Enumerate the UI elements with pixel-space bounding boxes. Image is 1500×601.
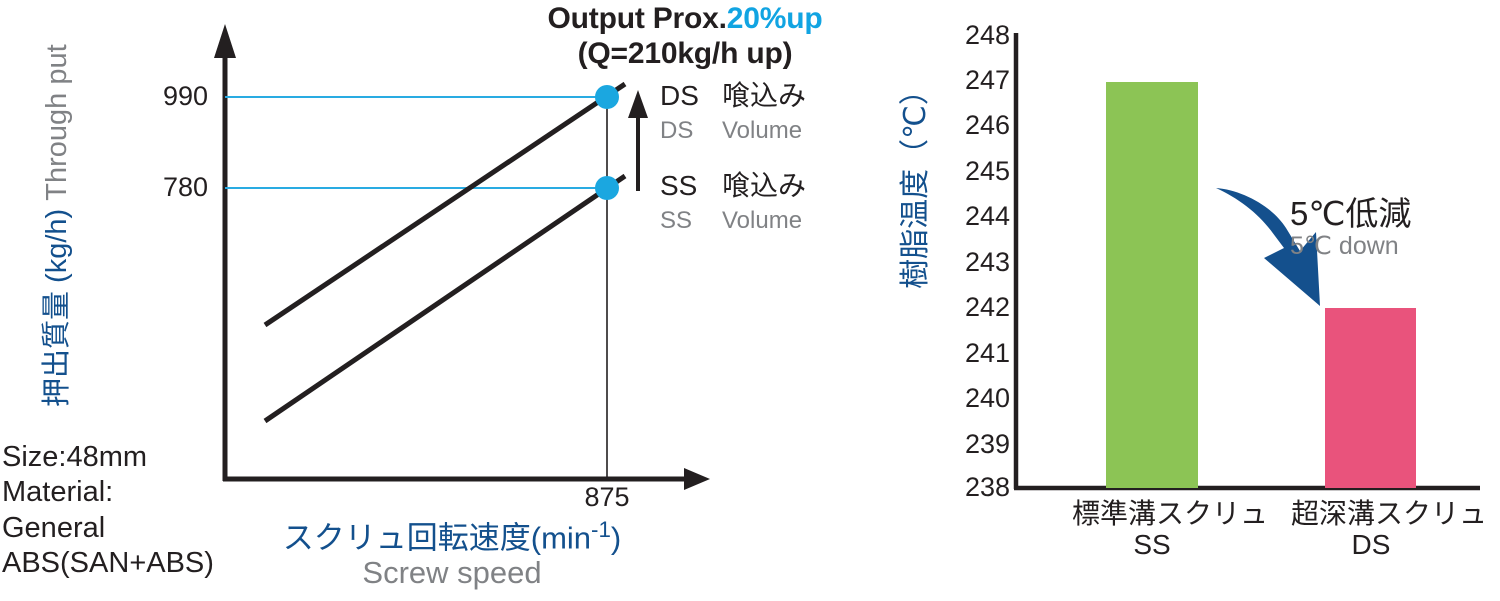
legend-ds-code: DS	[660, 82, 722, 110]
delta-arrow-head	[628, 90, 648, 118]
legend-ss-jp: 喰込み	[722, 170, 806, 201]
left-y-axis-label-en: Through put	[41, 44, 73, 200]
category-ss-code: SS	[1072, 529, 1232, 560]
right-y-tick-245: 245	[948, 156, 1010, 187]
legend-item-ds: DS喰込み DSVolume	[660, 82, 806, 143]
legend-ss-main: SS喰込み	[660, 172, 806, 200]
decrease-annotation: 5℃低減 5℃ down	[1290, 196, 1411, 260]
data-point-ds	[595, 85, 619, 109]
x-label-jp-sup: -1	[591, 517, 611, 542]
bar-ds	[1325, 308, 1416, 488]
legend-item-ss: SS喰込み SSVolume	[660, 172, 806, 233]
legend-ds-jp: 喰込み	[722, 80, 806, 111]
spec-line-size: Size:48mm	[2, 440, 214, 475]
y-axis-arrowhead	[214, 24, 236, 58]
left-chart-panel: Output Prox.20%up (Q=210kg/h up) 990 780…	[0, 0, 880, 601]
left-x-axis-label: スクリュ回転速度(min-1) Screw speed	[262, 517, 642, 591]
bar-ss	[1106, 82, 1198, 488]
legend-ss-sub: SSVolume	[660, 209, 806, 233]
category-ds-code: DS	[1291, 529, 1451, 560]
category-label-ds: 超深溝スクリュ DS	[1291, 498, 1451, 561]
y-tick-990: 990	[118, 81, 208, 112]
x-label-jp-pre: スクリュ回転速度(min	[283, 520, 591, 555]
right-y-tick-244: 244	[948, 201, 1010, 232]
ss-trend-line	[265, 176, 625, 421]
legend-ss-en: Volume	[722, 207, 802, 234]
right-y-tick-248: 248	[948, 20, 1010, 51]
left-y-axis-label-jp: 押出質量 (kg/h)	[41, 209, 73, 407]
right-y-tick-240: 240	[948, 383, 1010, 414]
right-y-tick-241: 241	[948, 338, 1010, 369]
category-ds-jp: 超深溝スクリュ	[1291, 498, 1451, 529]
x-label-jp-post: )	[611, 520, 621, 555]
right-chart-panel: 248 247 246 245 244 243 242 241 240 239 …	[880, 0, 1500, 601]
left-y-axis-label: 押出質量 (kg/h) Through put	[33, 107, 75, 407]
spec-line-abs: ABS(SAN+ABS)	[2, 546, 214, 581]
decrease-annotation-en: 5℃ down	[1290, 232, 1411, 260]
category-ss-jp: 標準溝スクリュ	[1072, 498, 1232, 529]
x-tick-875: 875	[565, 482, 649, 513]
category-label-ss: 標準溝スクリュ SS	[1072, 498, 1232, 561]
data-point-ss	[595, 176, 619, 200]
y-tick-780: 780	[118, 172, 208, 203]
spec-block: Size:48mm Material: General ABS(SAN+ABS)	[2, 440, 214, 582]
right-y-tick-247: 247	[948, 65, 1010, 96]
right-y-axis-label: 樹脂温度（℃）	[890, 32, 934, 332]
right-y-tick-239: 239	[948, 429, 1010, 460]
legend-ds-sub: DSVolume	[660, 119, 806, 143]
right-y-tick-243: 243	[948, 247, 1010, 278]
right-y-tick-242: 242	[948, 292, 1010, 323]
x-axis-arrowhead	[684, 468, 710, 490]
right-y-tick-246: 246	[948, 110, 1010, 141]
spec-line-material: Material:	[2, 475, 214, 510]
legend-ds-main: DS喰込み	[660, 82, 806, 110]
legend-ss-code-sub: SS	[660, 209, 722, 233]
ds-trend-line	[265, 84, 625, 325]
left-x-axis-label-en: Screw speed	[262, 556, 642, 591]
left-x-axis-label-jp: スクリュ回転速度(min-1)	[262, 517, 642, 556]
legend-ss-code: SS	[660, 172, 722, 200]
right-y-tick-238: 238	[948, 472, 1010, 503]
decrease-annotation-jp: 5℃低減	[1290, 196, 1411, 232]
legend-ds-en: Volume	[722, 117, 802, 144]
legend-ds-code-sub: DS	[660, 119, 722, 143]
spec-line-general: General	[2, 511, 214, 546]
